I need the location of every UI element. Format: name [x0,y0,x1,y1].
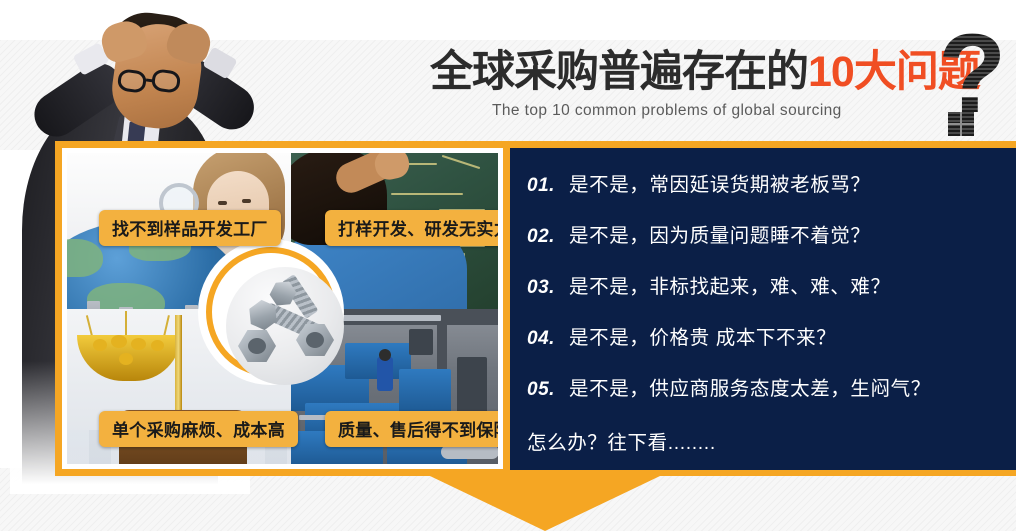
scroll-down-arrow-icon [430,476,660,531]
banner-stage: 全球采购普遍存在的10大问题 The top 10 common problem… [0,0,1016,531]
photo-collage-inner: 找不到样品开发工厂 打样开发、研发无实力 单个采购麻烦、成本高 质量、售后得不到… [62,148,503,469]
problem-list: 01. 是不是，常因延误货期被老板骂？ 02. 是不是，因为质量问题睡不着觉？ … [527,168,997,455]
list-item: 05. 是不是，供应商服务态度太差，生闷气？ [527,372,997,418]
question-mark-dot-icon [948,112,974,136]
title-text-dark: 全球采购普遍存在的 [430,48,808,96]
header: 全球采购普遍存在的10大问题 The top 10 common problem… [0,0,1016,148]
bolts-and-nuts-photo [226,267,344,385]
list-item-text: 是不是，非标找起来，难、难、难？ [569,270,891,299]
photo-collage-frame: 找不到样品开发工厂 打样开发、研发无实力 单个采购麻烦、成本高 质量、售后得不到… [55,141,510,476]
list-item: 03. 是不是，非标找起来，难、难、难？ [527,270,997,316]
list-item-number: 01. [527,175,569,197]
list-item-text: 是不是，供应商服务态度太差，生闷气？ [569,372,931,401]
list-item-number: 04. [527,328,569,350]
subtitle: The top 10 common problems of global sou… [492,102,950,120]
tag-sample-factory: 找不到样品开发工厂 [99,210,281,246]
list-item-text: 是不是，常因延误货期被老板骂？ [569,168,871,197]
tag-rd-capability: 打样开发、研发无实力 [325,210,503,246]
list-item-number: 02. [527,226,569,248]
list-item: 01. 是不是，常因延误货期被老板骂？ [527,168,997,214]
list-item-number: 03. [527,277,569,299]
list-item: 04. 是不是，价格贵 成本下不来？ [527,321,997,367]
bolts-badge [198,239,344,385]
list-item: 02. 是不是，因为质量问题睡不着觉？ [527,219,997,265]
tag-quality-service: 质量、售后得不到保障 [325,411,503,447]
badge-ring [206,247,336,377]
page-title: 全球采购普遍存在的10大问题 [430,46,950,98]
list-item-text: 是不是，因为质量问题睡不着觉？ [569,219,871,248]
problem-list-panel: 01. 是不是，常因延误货期被老板骂？ 02. 是不是，因为质量问题睡不着觉？ … [505,148,1016,476]
title-block: 全球采购普遍存在的10大问题 The top 10 common problem… [430,46,950,142]
list-item-text: 是不是，价格贵 成本下不来？ [569,321,836,350]
list-footer-text: 怎么办？往下看........ [527,426,997,455]
content-area: 01. 是不是，常因延误货期被老板骂？ 02. 是不是，因为质量问题睡不着觉？ … [55,141,1016,476]
tag-purchase-cost: 单个采购麻烦、成本高 [99,411,298,447]
question-mark-icon: ? [938,24,1006,124]
list-item-number: 05. [527,379,569,401]
